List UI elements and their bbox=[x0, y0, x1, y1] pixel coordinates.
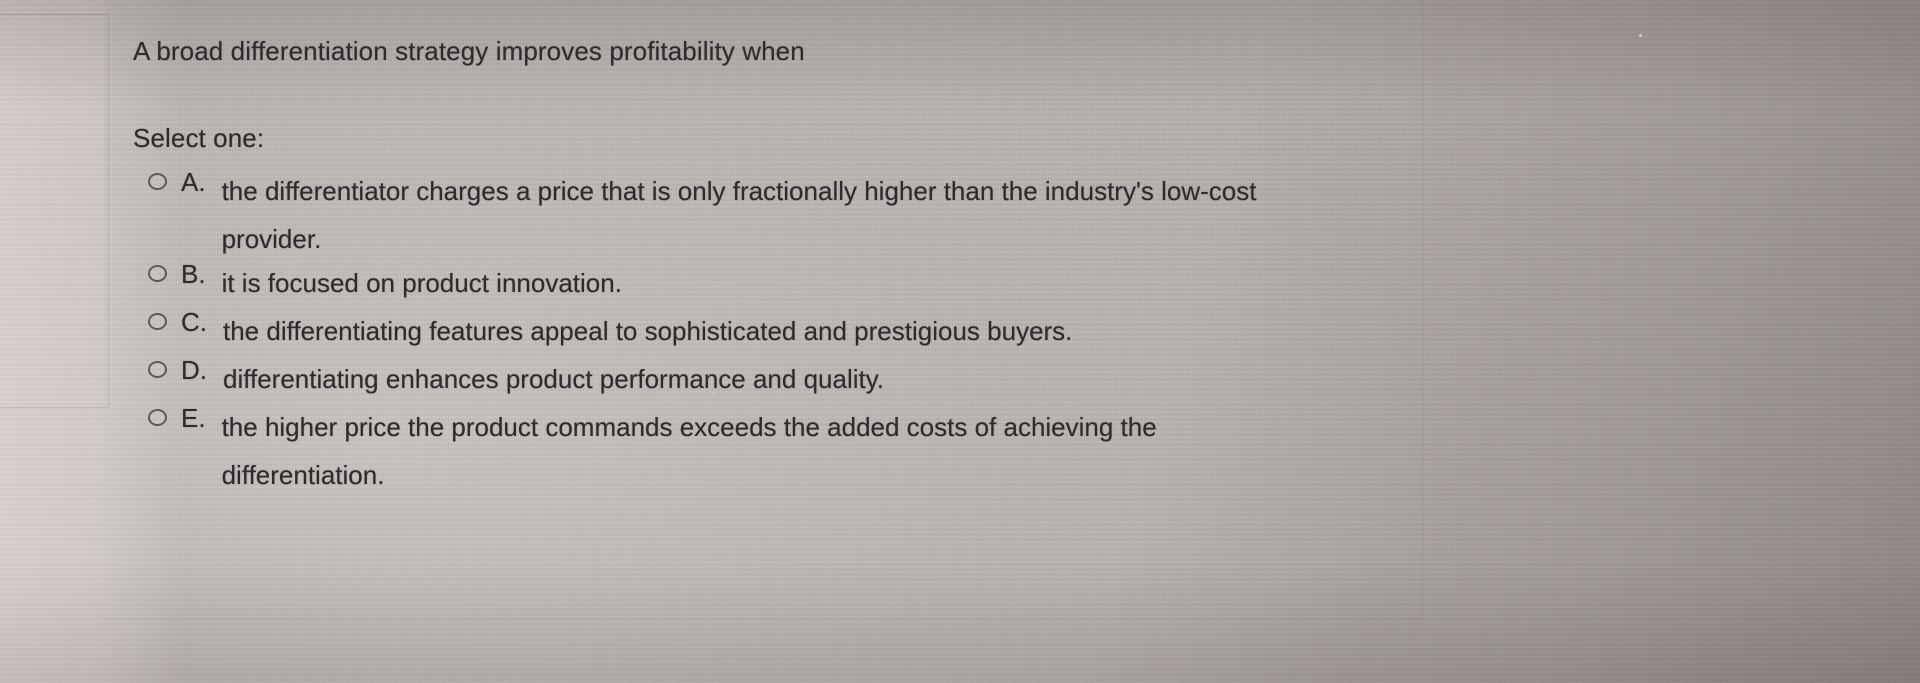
option-a-text: the differentiator charges a price that … bbox=[222, 167, 1257, 263]
option-d[interactable]: D. differentiating enhances product perf… bbox=[148, 355, 884, 403]
question-stem: A broad differentiation strategy improve… bbox=[133, 36, 805, 66]
radio-unchecked-icon[interactable] bbox=[148, 173, 167, 190]
quiz-question-content: A broad differentiation strategy improve… bbox=[0, 0, 1920, 683]
option-a-letter: A. bbox=[181, 167, 206, 197]
option-c-letter: C. bbox=[181, 307, 207, 337]
option-c-text: the differentiating features appeal to s… bbox=[223, 307, 1072, 355]
option-e-letter: E. bbox=[181, 403, 206, 433]
select-one-label: Select one: bbox=[133, 123, 264, 153]
option-b[interactable]: B. it is focused on product innovation. bbox=[148, 259, 622, 307]
option-b-text: it is focused on product innovation. bbox=[222, 259, 622, 307]
option-d-text: differentiating enhances product perform… bbox=[223, 355, 884, 403]
option-a[interactable]: A. the differentiator charges a price th… bbox=[148, 167, 1257, 263]
photographed-screen: A broad differentiation strategy improve… bbox=[0, 0, 1920, 683]
radio-unchecked-icon[interactable] bbox=[148, 409, 167, 426]
radio-unchecked-icon[interactable] bbox=[148, 313, 167, 330]
option-d-letter: D. bbox=[181, 355, 207, 385]
option-e-text: the higher price the product commands ex… bbox=[222, 403, 1157, 499]
option-e[interactable]: E. the higher price the product commands… bbox=[148, 403, 1157, 499]
option-b-letter: B. bbox=[181, 259, 206, 289]
radio-unchecked-icon[interactable] bbox=[148, 361, 167, 378]
option-c[interactable]: C. the differentiating features appeal t… bbox=[148, 307, 1072, 355]
radio-unchecked-icon[interactable] bbox=[148, 265, 167, 282]
